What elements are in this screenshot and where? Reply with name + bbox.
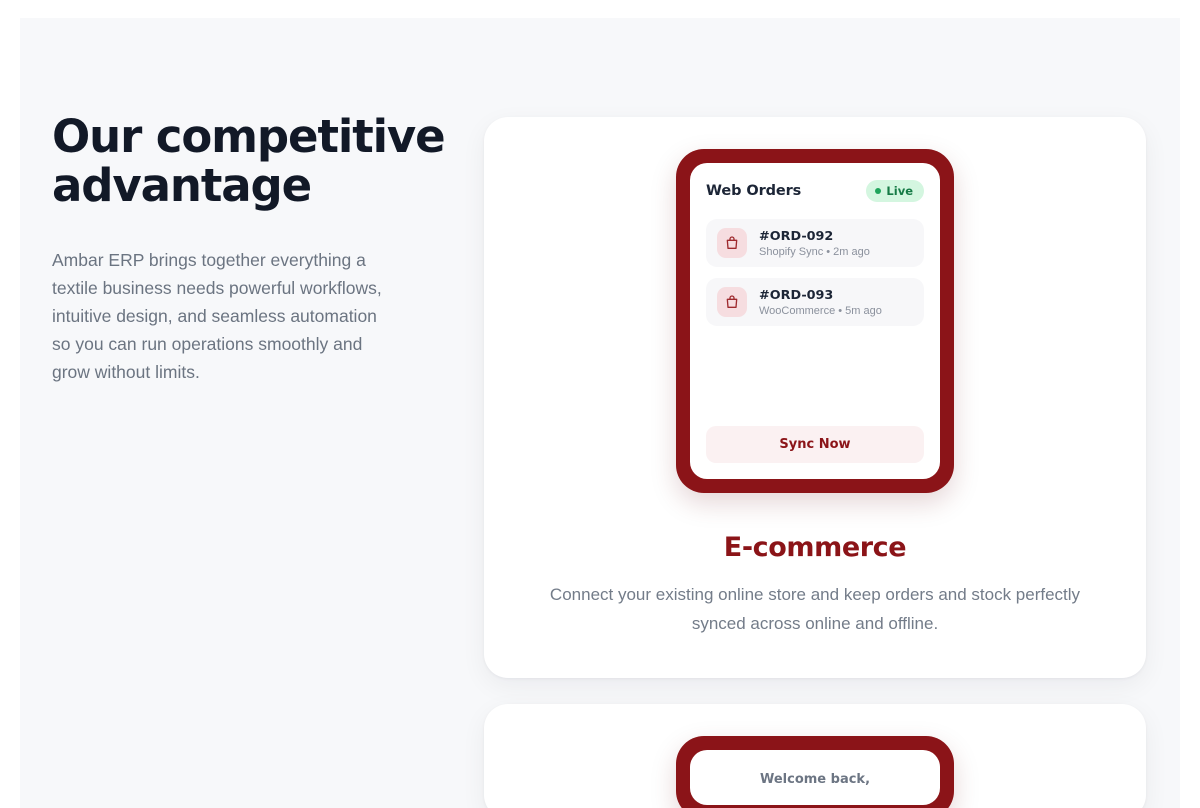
order-id: #ORD-092 [759,229,870,244]
sync-now-button[interactable]: Sync Now [706,426,924,463]
order-id: #ORD-093 [759,288,882,303]
device-mockup-wrapper: Web Orders Live [512,149,1118,493]
screen-spacer [706,337,924,426]
screen-title: Web Orders [706,183,801,199]
list-item-text: #ORD-092 Shopify Sync • 2m ago [759,229,870,258]
page-canvas: Our competitive advantage Ambar ERP brin… [20,18,1180,808]
device-screen: Web Orders Live [690,163,940,479]
feature-description: Connect your existing online store and k… [512,580,1118,638]
feature-card-list: Web Orders Live [484,117,1146,808]
page-title: Our competitive advantage [52,112,452,210]
status-badge: Live [866,180,924,202]
greeting-text: Welcome back, [706,772,924,787]
device-mockup-wrapper: Welcome back, [512,736,1118,808]
device-frame: Web Orders Live [676,149,954,493]
feature-card-ecommerce: Web Orders Live [484,117,1146,678]
status-badge-label: Live [886,184,913,198]
status-dot-icon [875,188,881,194]
order-meta: WooCommerce • 5m ago [759,305,882,317]
feature-card-secondary: Welcome back, [484,704,1146,808]
list-item-text: #ORD-093 WooCommerce • 5m ago [759,288,882,317]
shopping-bag-icon [717,287,747,317]
device-screen: Welcome back, [690,750,940,805]
shopping-bag-icon [717,228,747,258]
feature-title: E-commerce [512,532,1118,563]
intro-paragraph: Ambar ERP brings together everything a t… [52,246,392,386]
list-item[interactable]: #ORD-092 Shopify Sync • 2m ago [706,219,924,267]
order-meta: Shopify Sync • 2m ago [759,246,870,258]
device-frame: Welcome back, [676,736,954,808]
list-item[interactable]: #ORD-093 WooCommerce • 5m ago [706,278,924,326]
intro-column: Our competitive advantage Ambar ERP brin… [52,112,452,386]
screen-header: Web Orders Live [706,180,924,202]
